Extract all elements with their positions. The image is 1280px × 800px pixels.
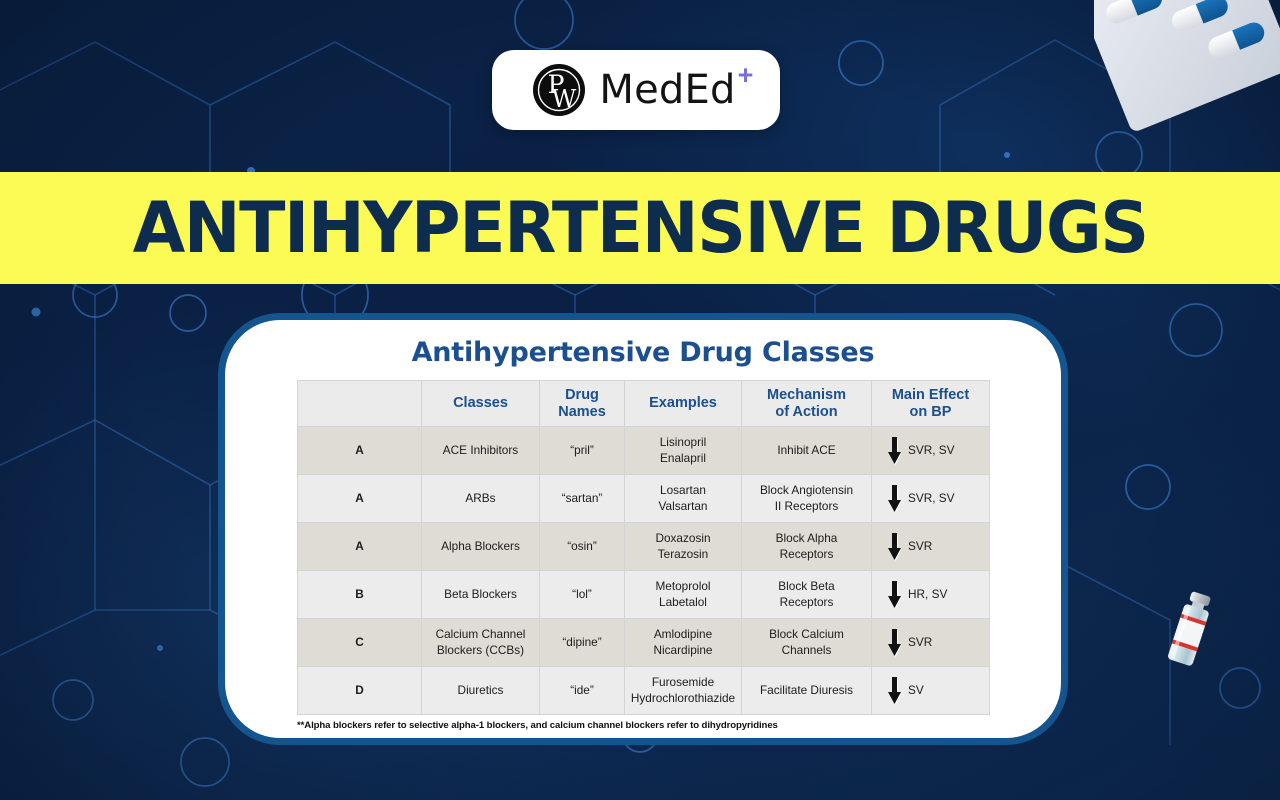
cell-drug-names: “lol” [540,571,625,619]
infographic-page: P W MedEd + ANTIHYPERTENSIVE DRUGS Antih… [0,0,1280,800]
pill-blister-pack-image [1094,0,1280,136]
brand-logo[interactable]: P W MedEd + [492,50,780,130]
cell-examples: LosartanValsartan [625,475,742,523]
cell-mechanism: Block AlphaReceptors [742,523,872,571]
page-title: ANTIHYPERTENSIVE DRUGS [132,193,1147,263]
cell-class-letter: C [298,619,422,667]
cell-main-effect: SVR, SV [872,475,990,523]
cell-main-effect: SV [872,667,990,715]
column-header-mechanism: Mechanismof Action [742,381,872,427]
column-header-main-effect: Main Effecton BP [872,381,990,427]
table-row: AARBs“sartan”LosartanValsartanBlock Angi… [298,475,990,523]
table-row: AAlpha Blockers“osin”DoxazosinTerazosinB… [298,523,990,571]
effect-label: SVR [908,635,932,650]
cell-classes: Beta Blockers [422,571,540,619]
content-card: Antihypertensive Drug Classes Classes Dr… [218,313,1068,745]
cell-class-letter: D [298,667,422,715]
down-arrow-icon [888,629,901,656]
cell-classes: Diuretics [422,667,540,715]
table-row: CCalcium Channel Blockers (CCBs)“dipine”… [298,619,990,667]
cell-examples: DoxazosinTerazosin [625,523,742,571]
cell-main-effect: HR, SV [872,571,990,619]
column-header-drug-names: DrugNames [540,381,625,427]
cell-drug-names: “dipine” [540,619,625,667]
cell-examples: LisinoprilEnalapril [625,427,742,475]
cell-drug-names: “sartan” [540,475,625,523]
effect-label: SV [908,683,924,698]
title-banner: ANTIHYPERTENSIVE DRUGS [0,172,1280,284]
table-row: DDiuretics“ide”FurosemideHydrochlorothia… [298,667,990,715]
effect-label: SVR, SV [908,491,955,506]
column-header-blank [298,381,422,427]
cell-mechanism: Inhibit ACE [742,427,872,475]
cell-main-effect: SVR, SV [872,427,990,475]
table-row: AACE Inhibitors“pril”LisinoprilEnalapril… [298,427,990,475]
cell-drug-names: “pril” [540,427,625,475]
cell-class-letter: A [298,427,422,475]
column-header-classes: Classes [422,381,540,427]
table-footnote: **Alpha blockers refer to selective alph… [297,720,989,731]
table-title: Antihypertensive Drug Classes [247,337,1039,368]
cell-mechanism: Block AngiotensinII Receptors [742,475,872,523]
effect-label: SVR [908,539,932,554]
svg-text:W: W [552,85,577,113]
cell-mechanism: Facilitate Diuresis [742,667,872,715]
effect-label: HR, SV [908,587,947,602]
pw-monogram-icon: P W [532,63,586,117]
cell-main-effect: SVR [872,619,990,667]
cell-classes: Alpha Blockers [422,523,540,571]
cell-classes: Calcium Channel Blockers (CCBs) [422,619,540,667]
down-arrow-icon [888,485,901,512]
cell-class-letter: A [298,523,422,571]
brand-logo-text: MedEd [599,67,735,113]
cell-classes: ACE Inhibitors [422,427,540,475]
cell-classes: ARBs [422,475,540,523]
down-arrow-icon [888,437,901,464]
cell-mechanism: Block BetaReceptors [742,571,872,619]
down-arrow-icon [888,677,901,704]
cell-examples: AmlodipineNicardipine [625,619,742,667]
cell-class-letter: A [298,475,422,523]
down-arrow-icon [888,581,901,608]
effect-label: SVR, SV [908,443,955,458]
table-header-row: Classes DrugNames Examples Mechanismof A… [298,381,990,427]
drug-classes-table: Classes DrugNames Examples Mechanismof A… [297,380,990,715]
cell-examples: FurosemideHydrochlorothiazide [625,667,742,715]
cell-main-effect: SVR [872,523,990,571]
column-header-examples: Examples [625,381,742,427]
cell-mechanism: Block CalciumChannels [742,619,872,667]
cell-drug-names: “ide” [540,667,625,715]
down-arrow-icon [888,533,901,560]
medical-vial-image [1154,586,1236,682]
table-row: BBeta Blockers“lol”MetoprololLabetalolBl… [298,571,990,619]
table-body: AACE Inhibitors“pril”LisinoprilEnalapril… [298,427,990,715]
cell-class-letter: B [298,571,422,619]
cell-drug-names: “osin” [540,523,625,571]
plus-icon: + [738,62,754,89]
cell-examples: MetoprololLabetalol [625,571,742,619]
